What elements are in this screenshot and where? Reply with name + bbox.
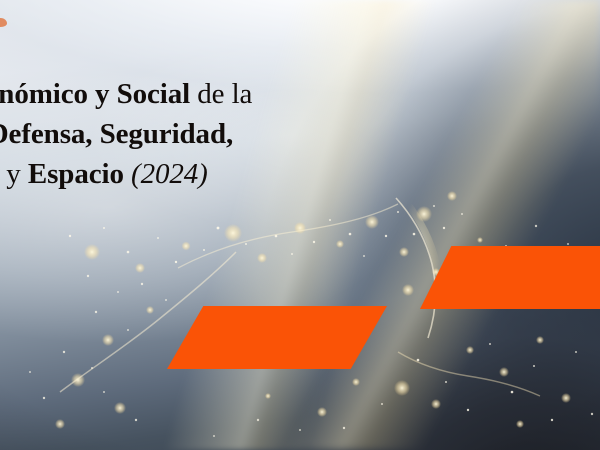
- title-line-3-year: (2024): [124, 158, 208, 190]
- orange-parallelogram-upper-right: [420, 246, 600, 309]
- title-line-3-light: y: [0, 158, 28, 190]
- cover-banner: cto Económico y Social de la tria de Def…: [0, 0, 600, 450]
- vignette: [0, 0, 600, 450]
- title-line-3-bold-2: Espacio: [28, 158, 124, 190]
- organisation-logo: ra: [0, 356, 24, 406]
- title-line-2-bold: Defensa, Seguridad,: [0, 118, 233, 150]
- title-line-3: náutica y Espacio (2024): [0, 154, 468, 194]
- page-title: cto Económico y Social de la tria de Def…: [0, 74, 468, 194]
- title-line-1: cto Económico y Social de la: [0, 74, 468, 114]
- title-line-1-light: de la: [190, 78, 252, 110]
- orange-parallelogram-lower-left: [167, 306, 387, 369]
- title-line-2: tria de Defensa, Seguridad,: [0, 114, 468, 154]
- title-line-1-bold: cto Económico y Social: [0, 78, 190, 110]
